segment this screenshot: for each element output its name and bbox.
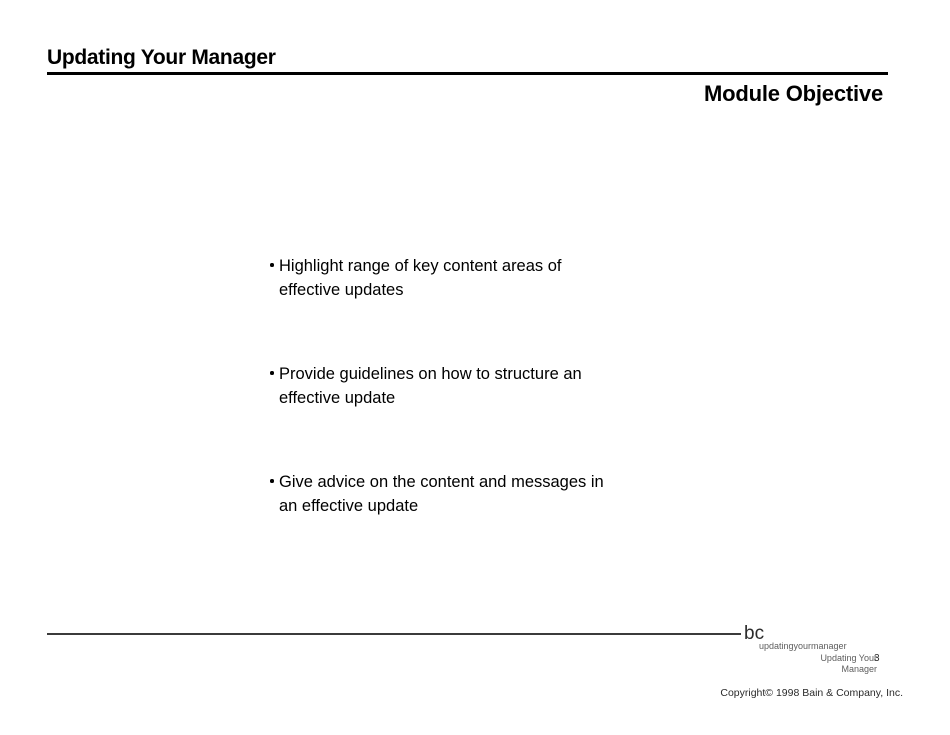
bullet-list: Highlight range of key content areas of … (270, 255, 730, 518)
list-item: Highlight range of key content areas of … (270, 255, 730, 302)
title-divider (47, 72, 888, 75)
slide-subtitle: Module Objective (704, 80, 883, 108)
footer-filename: updatingyourmanager (759, 641, 877, 653)
list-item-text: Highlight range of key content areas of … (279, 255, 730, 302)
page-number: 3 (874, 653, 880, 665)
list-item-text: Provide guidelines on how to structure a… (279, 363, 730, 410)
list-item: Provide guidelines on how to structure a… (270, 363, 730, 410)
bullet-dot-icon (270, 371, 274, 375)
slide-canvas: Updating Your Manager Module Objective H… (0, 0, 950, 735)
footer-metadata: updatingyourmanager Updating Your Manage… (759, 641, 877, 676)
footer-divider (47, 633, 741, 635)
bullet-dot-icon (270, 263, 274, 267)
bullet-dot-icon (270, 479, 274, 483)
copyright-notice: Copyright© 1998 Bain & Company, Inc. (720, 687, 903, 700)
page-title: Updating Your Manager (47, 45, 276, 71)
list-item: Give advice on the content and messages … (270, 471, 730, 518)
footer-deck-name: Updating Your Manager (759, 653, 877, 676)
list-item-text: Give advice on the content and messages … (279, 471, 730, 518)
